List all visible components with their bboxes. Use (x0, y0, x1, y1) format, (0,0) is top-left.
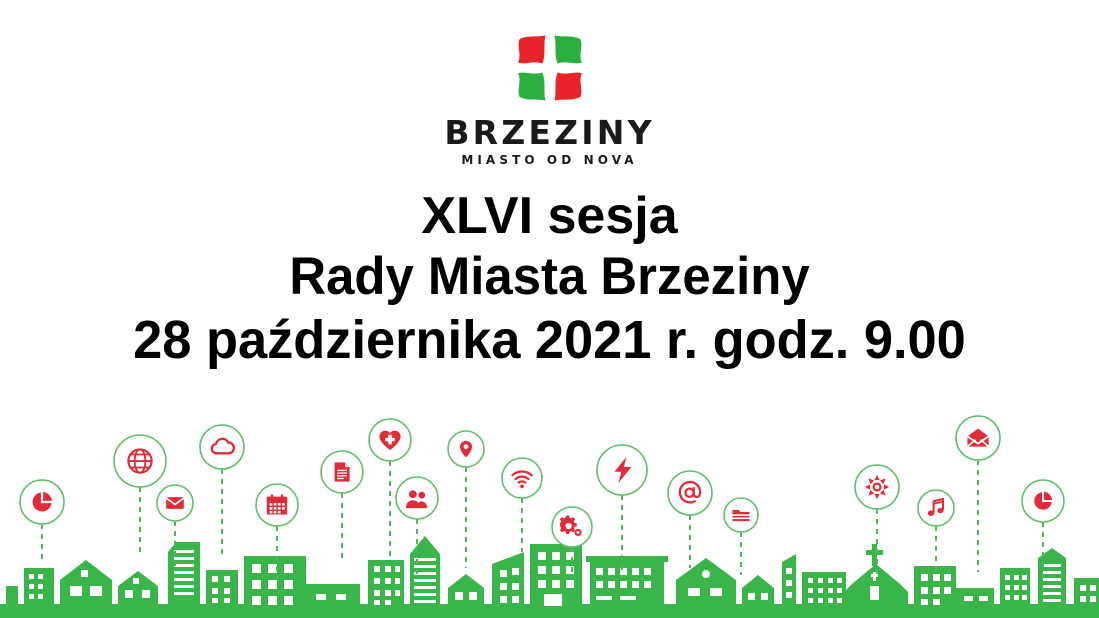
icon-bubble-location-pin[interactable] (448, 431, 484, 467)
icon-bubble-envelope-open[interactable] (956, 416, 1000, 460)
icon-bubble-medical-heart[interactable] (369, 419, 411, 461)
logo-name: BRZEZINY (444, 116, 654, 149)
logo-wordmark: BRZEZINY MIASTO OD NOVA (444, 116, 654, 166)
logo-quadrant-top-left (518, 35, 545, 63)
logo-tagline: MIASTO OD NOVA (461, 154, 637, 166)
icon-bubble-cloud[interactable] (200, 425, 244, 469)
logo-quadrant-top-right (554, 35, 581, 63)
icon-bubble-calendar[interactable] (256, 484, 298, 526)
logo-quadrant-bottom-right (554, 73, 581, 101)
envelope-icon (166, 497, 184, 509)
headline-line-council: Rady Miasta Brzeziny (22, 246, 1077, 308)
icon-bubble-globe[interactable] (114, 435, 166, 487)
document-icon (335, 462, 350, 481)
icon-bubble-folder[interactable] (724, 498, 758, 532)
icon-bubble-pie-chart-right[interactable] (1022, 480, 1064, 522)
icon-bubble-wifi[interactable] (502, 458, 542, 498)
icon-bubble-sunburst[interactable] (855, 465, 899, 509)
calendar-icon (267, 494, 287, 514)
icon-bubble-gears[interactable] (552, 507, 592, 547)
brzeziny-logo-mark (512, 30, 588, 106)
icon-bubble-lightning[interactable] (597, 445, 647, 495)
icon-bubble-at-sign[interactable] (668, 471, 712, 515)
ground-band (0, 604, 1099, 618)
icon-bubble-document[interactable] (321, 451, 363, 493)
sunburst-icon (865, 475, 889, 499)
icon-bubble-envelope[interactable] (157, 485, 193, 521)
headline-line-datetime: 28 października 2021 r. godz. 9.00 (16, 308, 1082, 372)
poster-canvas: BRZEZINY MIASTO OD NOVA XLVI sesja Rady … (0, 0, 1099, 618)
icon-bubble-pie-chart-left[interactable] (20, 480, 64, 524)
logo-quadrant-bottom-left (518, 73, 545, 101)
event-headline: XLVI sesja Rady Miasta Brzeziny 28 paźdz… (0, 186, 1099, 372)
icon-bubble-people[interactable] (396, 477, 438, 519)
cityscape-illustration (0, 408, 1099, 618)
brzeziny-logo: BRZEZINY MIASTO OD NOVA (0, 30, 1099, 166)
headline-line-session: XLVI sesja (0, 186, 1099, 246)
icon-bubble-music-note[interactable] (918, 490, 954, 526)
